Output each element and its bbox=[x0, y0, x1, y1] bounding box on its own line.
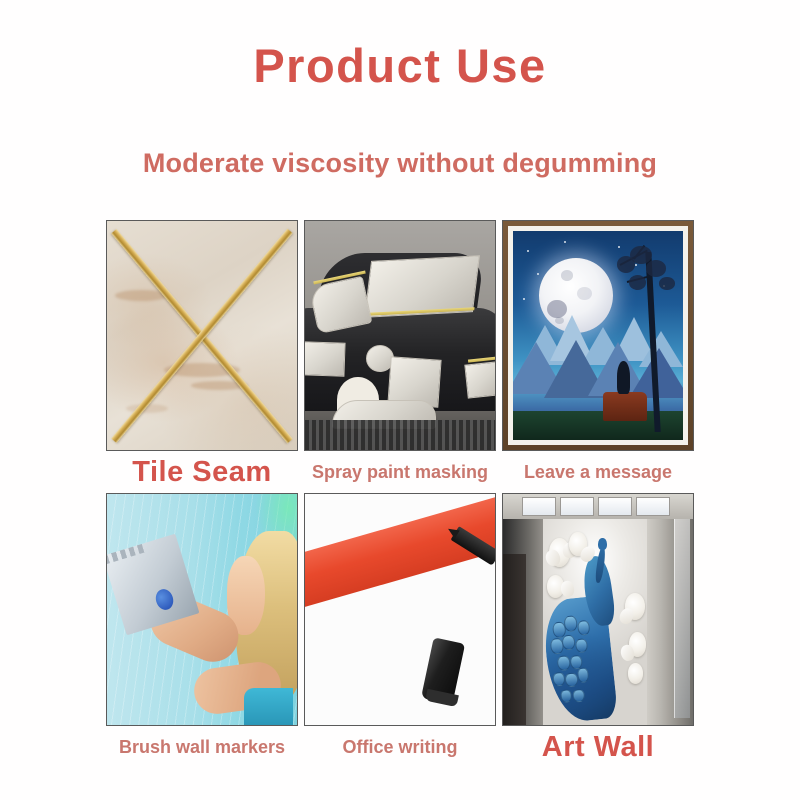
leave-a-message-photo bbox=[502, 220, 694, 451]
caption-spray-paint-masking: Spray paint masking bbox=[304, 462, 496, 483]
gallery-cell-office-writing bbox=[304, 493, 496, 726]
gallery-cell-brush-wall-markers bbox=[106, 493, 298, 726]
gallery-cell-tile-seam bbox=[106, 220, 298, 451]
caption-art-wall: Art Wall bbox=[502, 731, 694, 764]
gallery-cell-spray-paint-masking bbox=[304, 220, 496, 451]
spray-paint-masking-photo bbox=[304, 220, 496, 451]
gallery-captions-row-1: Tile Seam Spray paint masking Leave a me… bbox=[106, 451, 694, 493]
use-case-gallery: Tile Seam Spray paint masking Leave a me… bbox=[106, 220, 694, 768]
caption-brush-wall-markers: Brush wall markers bbox=[106, 737, 298, 758]
caption-office-writing: Office writing bbox=[304, 737, 496, 758]
page-subtitle: Moderate viscosity without degumming bbox=[0, 148, 800, 179]
office-writing-photo bbox=[304, 493, 496, 726]
caption-leave-a-message: Leave a message bbox=[502, 462, 694, 483]
caption-tile-seam: Tile Seam bbox=[106, 456, 298, 489]
product-use-infographic: Product Use Moderate viscosity without d… bbox=[0, 0, 800, 800]
gallery-row-1 bbox=[106, 220, 694, 451]
tile-seam-photo bbox=[106, 220, 298, 451]
gallery-cell-art-wall bbox=[502, 493, 694, 726]
art-wall-photo bbox=[502, 493, 694, 726]
gallery-cell-leave-a-message bbox=[502, 220, 694, 451]
brush-wall-markers-photo bbox=[106, 493, 298, 726]
gallery-captions-row-2: Brush wall markers Office writing Art Wa… bbox=[106, 726, 694, 768]
gallery-row-2 bbox=[106, 493, 694, 726]
page-title: Product Use bbox=[0, 38, 800, 93]
